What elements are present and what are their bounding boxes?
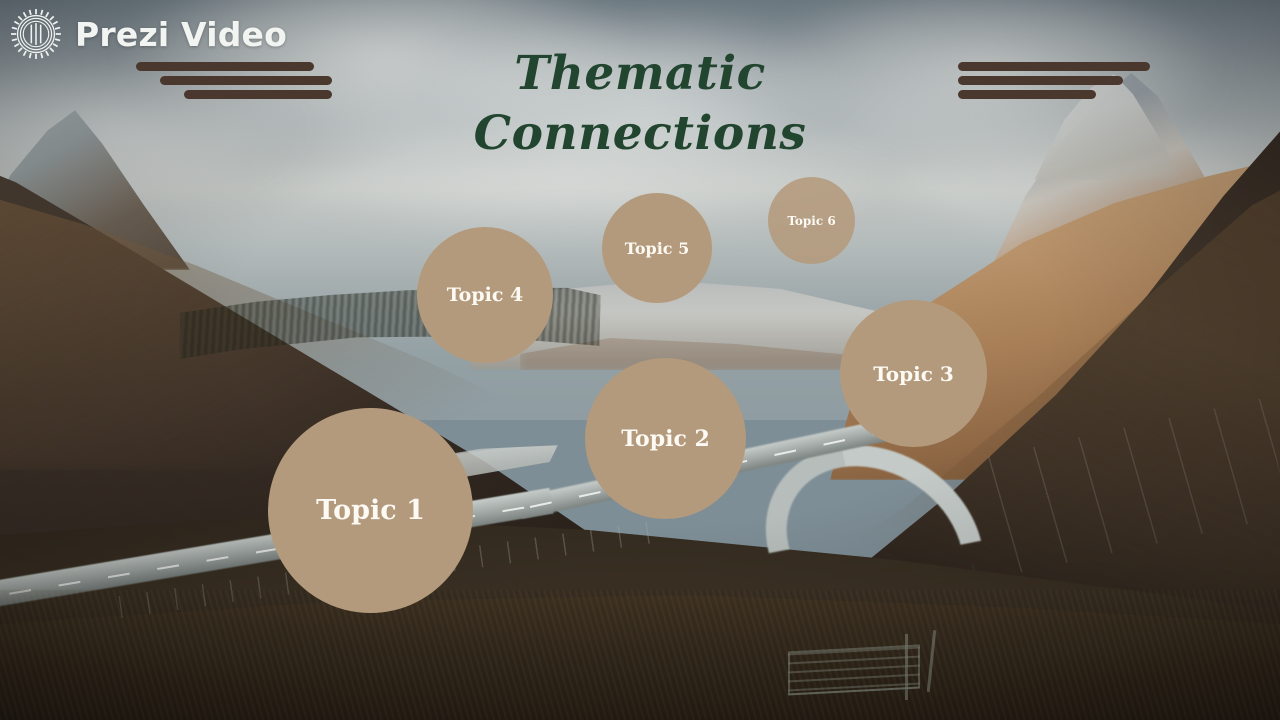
topic-bubble-label: Topic 3 (873, 362, 954, 386)
prezi-sunburst-icon (10, 8, 62, 60)
topic-bubble-label: Topic 4 (447, 284, 524, 306)
topic-bubble-label: Topic 1 (316, 495, 425, 526)
presentation-slide: Prezi Video Thematic Connections Topic 1… (0, 0, 1280, 720)
topic-bubble-label: Topic 6 (787, 214, 835, 228)
slide-title: Thematic Connections (0, 44, 1280, 163)
topic-bubble-label: Topic 5 (625, 239, 689, 258)
slide-title-line-2: Connections (0, 104, 1280, 164)
topic-bubble-6[interactable]: Topic 6 (768, 177, 855, 264)
topic-bubble-1[interactable]: Topic 1 (268, 408, 473, 613)
topic-bubble-5[interactable]: Topic 5 (602, 193, 712, 303)
topic-bubble-label: Topic 2 (621, 426, 710, 452)
product-name-label: Prezi Video (75, 15, 287, 54)
topic-bubble-4[interactable]: Topic 4 (417, 227, 553, 363)
grass-texture (0, 590, 1280, 720)
topic-bubble-3[interactable]: Topic 3 (840, 300, 987, 447)
prezi-video-logo: Prezi Video (10, 8, 287, 60)
topic-bubble-2[interactable]: Topic 2 (585, 358, 746, 519)
